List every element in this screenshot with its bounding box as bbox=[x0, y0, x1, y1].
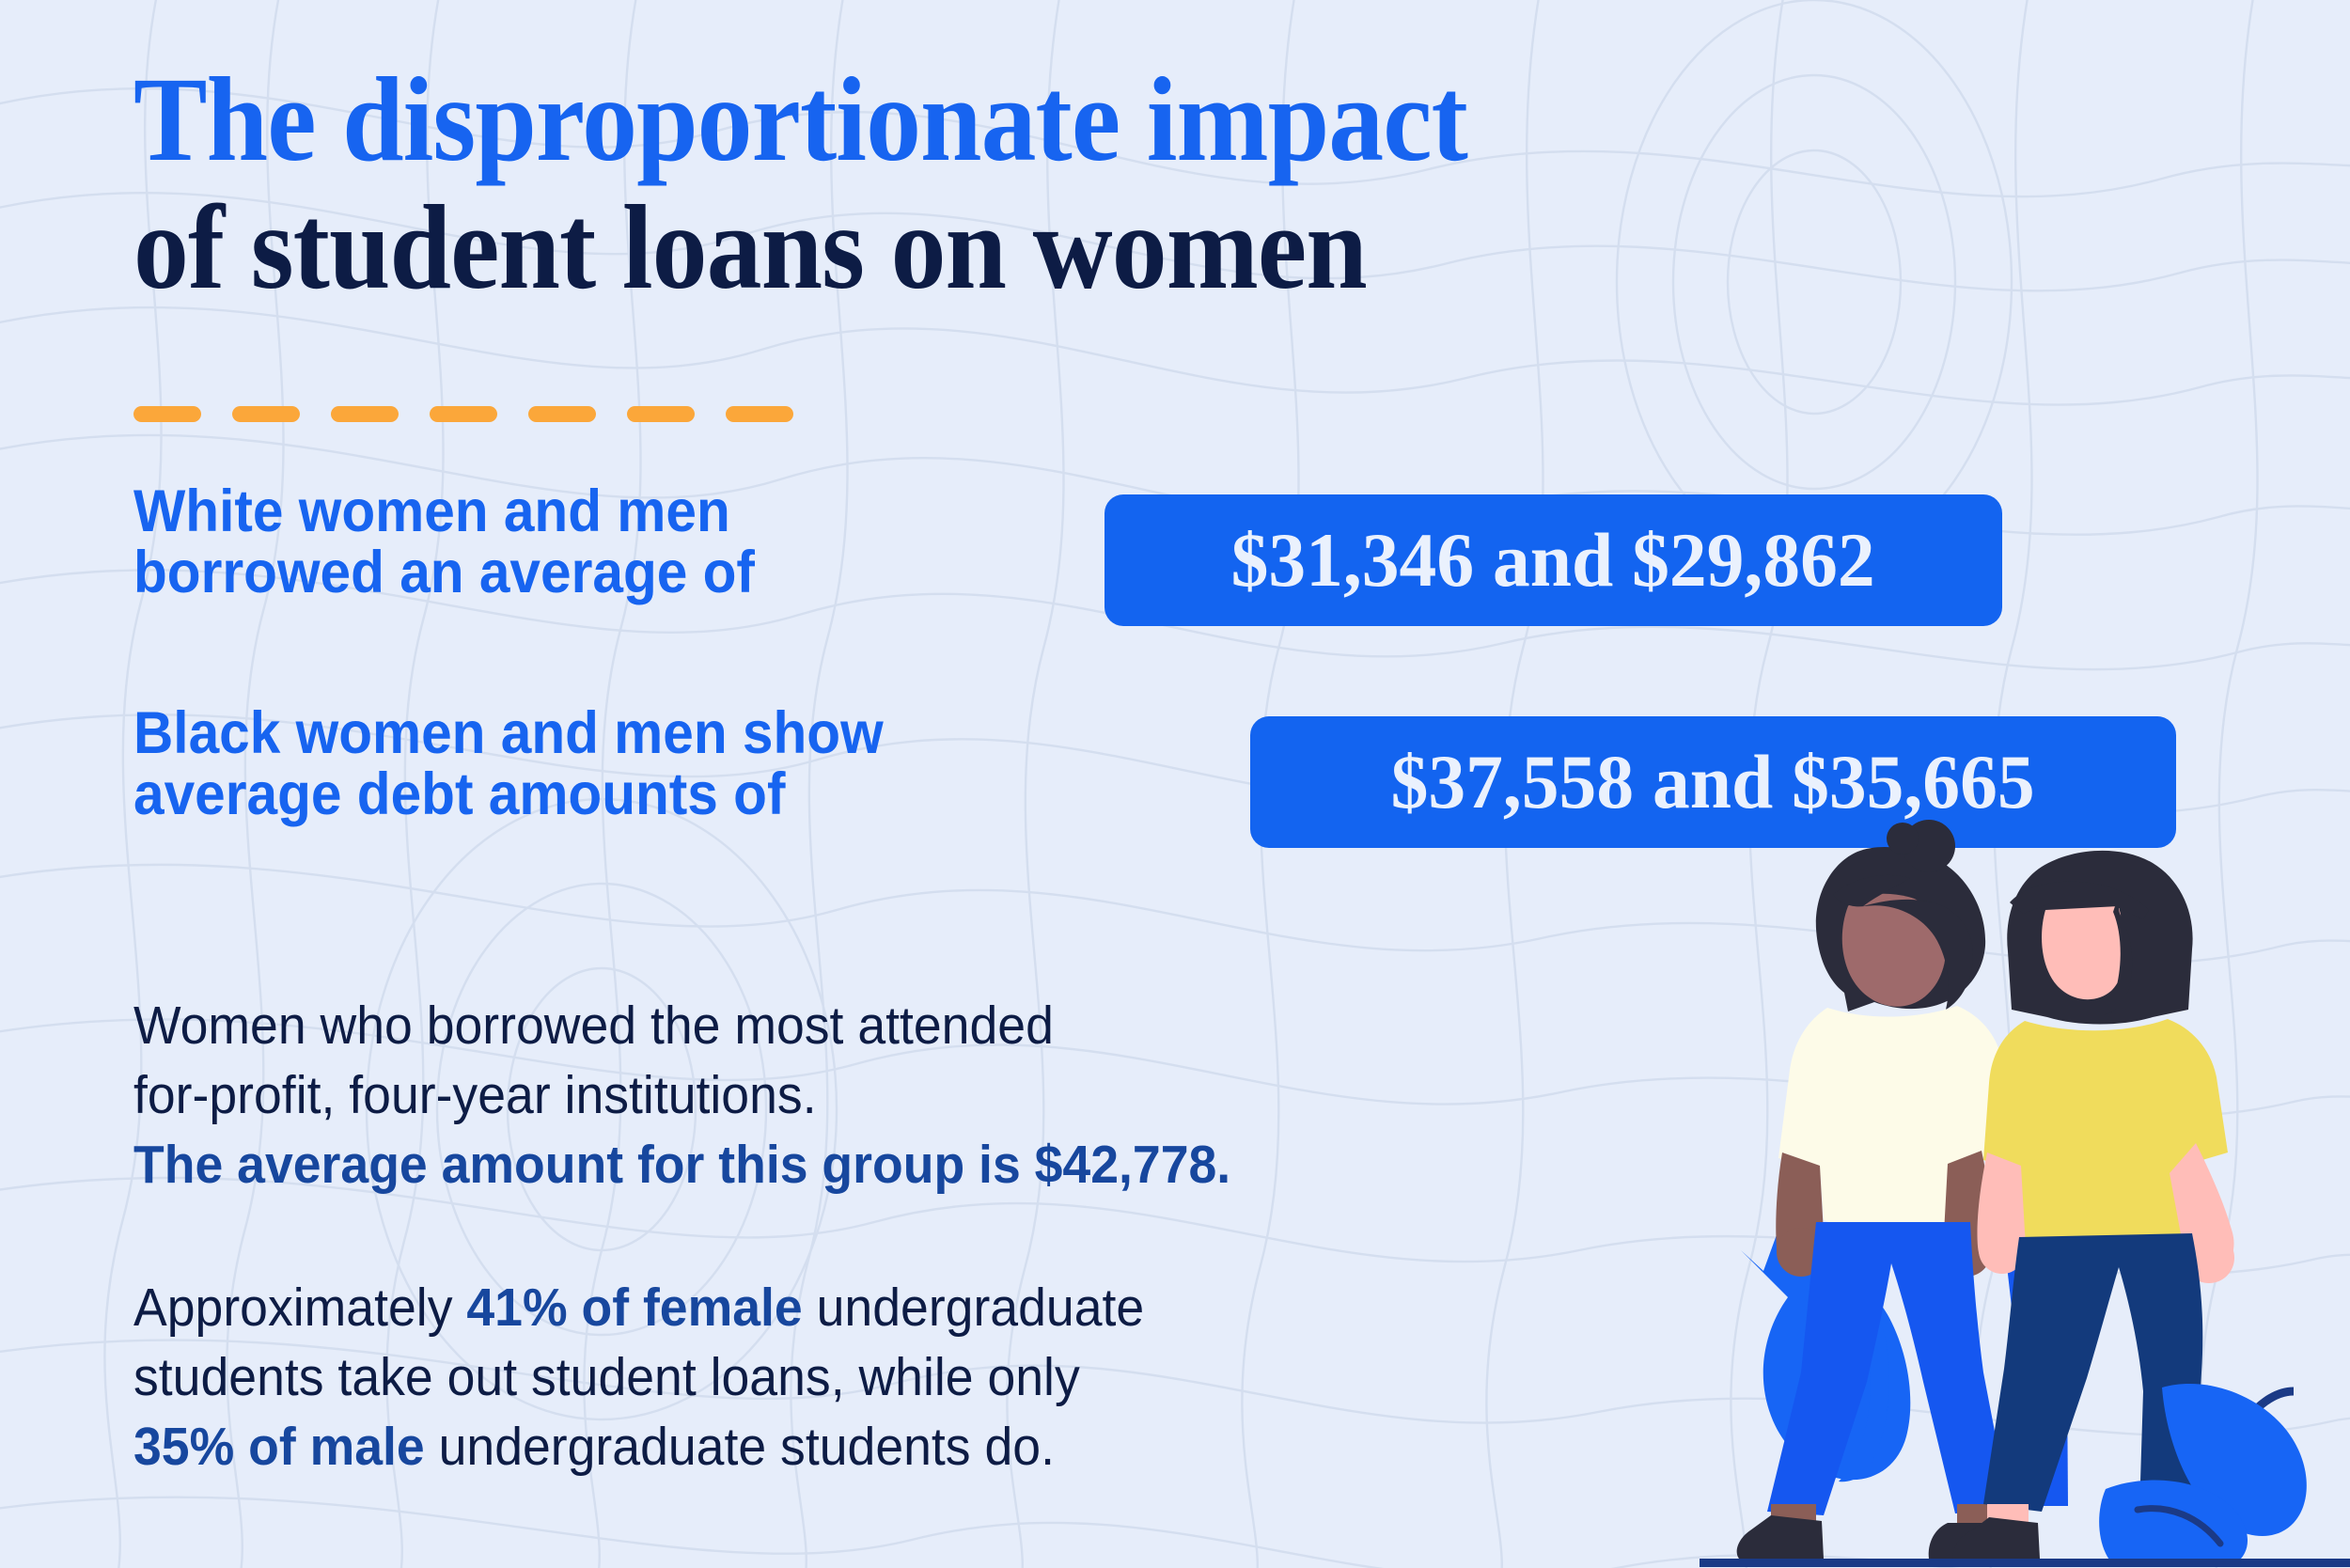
stat-value-white: $31,346 and $29,862 bbox=[1231, 522, 1875, 599]
stat-label-black: Black women and men show average debt am… bbox=[133, 703, 884, 825]
body-paragraph-percentages: Approximately 41% of female undergraduat… bbox=[133, 1203, 1636, 1482]
infographic-canvas: The disproportionate impact of student l… bbox=[0, 0, 2350, 1568]
divider-dash bbox=[331, 406, 399, 422]
divider-dash bbox=[430, 406, 497, 422]
plant-leaves-icon bbox=[2099, 1384, 2307, 1566]
para2-highlight-female: 41% of female bbox=[466, 1278, 802, 1338]
hair-bun-small-icon bbox=[1887, 823, 1919, 855]
title-line-secondary: of student loans on women bbox=[133, 192, 1777, 303]
body-paragraph-institutions: Women who borrowed the most attended for… bbox=[133, 921, 1636, 1200]
para1-highlight-average: The average amount for this group is $42… bbox=[133, 1135, 1230, 1195]
page-title: The disproportionate impact of student l… bbox=[133, 64, 1919, 303]
divider-dash bbox=[232, 406, 300, 422]
para1-plain-1: Women who borrowed the most attended for… bbox=[133, 996, 1054, 1125]
para2-plain-1: Approximately bbox=[133, 1278, 466, 1338]
stat-pill-white: $31,346 and $29,862 bbox=[1104, 494, 2002, 626]
stat-label-white: White women and men borrowed an average … bbox=[133, 481, 755, 604]
shoe-left bbox=[1737, 1515, 1824, 1559]
divider-dashes bbox=[133, 406, 793, 422]
illustration-two-women bbox=[1673, 808, 2350, 1568]
divider-dash bbox=[133, 406, 201, 422]
divider-dash bbox=[627, 406, 695, 422]
para2-highlight-male: 35% of male bbox=[133, 1417, 425, 1477]
pants-navy bbox=[1983, 1233, 2202, 1515]
para2-plain-3: undergraduate students do. bbox=[425, 1417, 1055, 1477]
ground-line bbox=[1700, 1559, 2350, 1567]
divider-dash bbox=[726, 406, 793, 422]
divider-dash bbox=[528, 406, 596, 422]
title-line-primary: The disproportionate impact bbox=[133, 64, 1777, 175]
